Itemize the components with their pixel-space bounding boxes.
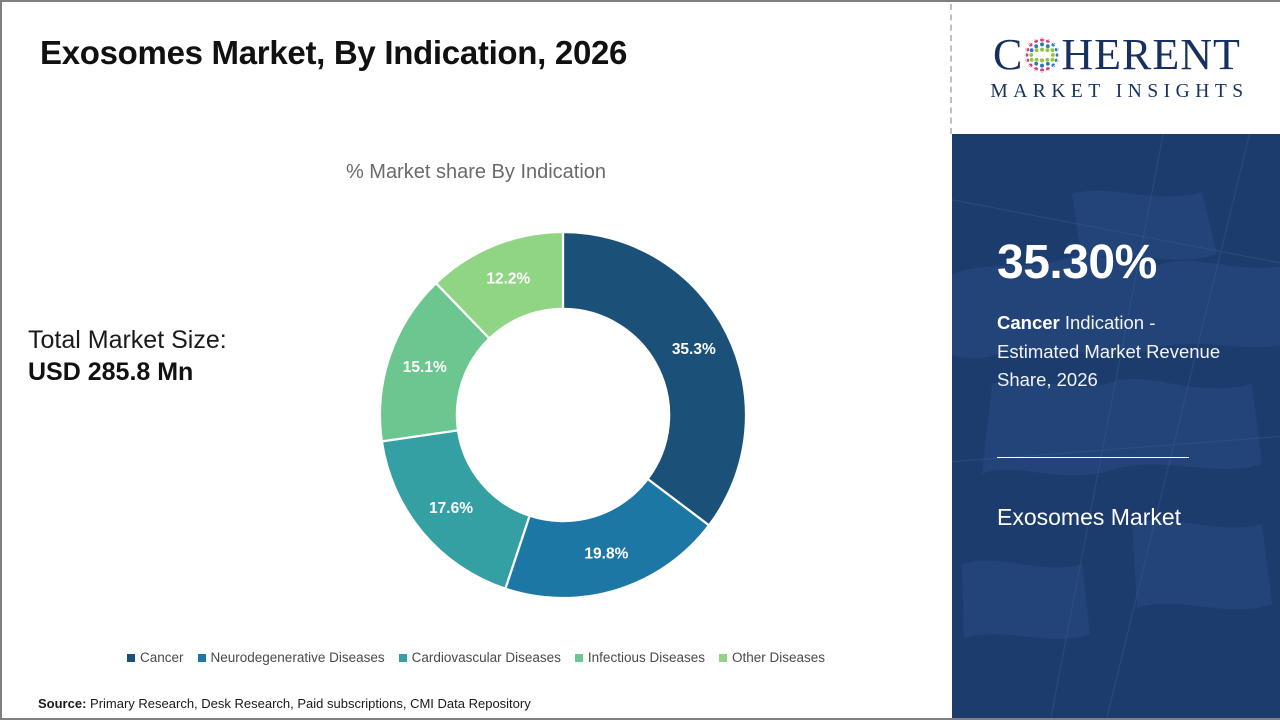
donut-slice-label: 15.1% <box>403 359 447 376</box>
legend-label: Cancer <box>140 650 184 665</box>
donut-slice-label: 12.2% <box>486 271 530 288</box>
page-title: Exosomes Market, By Indication, 2026 <box>40 34 627 72</box>
legend-label: Other Diseases <box>732 650 825 665</box>
chart-subtitle: % Market share By Indication <box>2 161 950 184</box>
donut-chart: 35.3%19.8%17.6%15.1%12.2% <box>378 230 748 600</box>
logo-word-herent: HERENT <box>1061 33 1241 77</box>
legend-swatch <box>575 654 583 662</box>
chart-legend: CancerNeurodegenerative DiseasesCardiova… <box>2 650 950 665</box>
total-market-size-value: USD 285.8 Mn <box>28 356 227 388</box>
legend-item[interactable]: Cancer <box>127 650 184 665</box>
donut-slice-label: 17.6% <box>429 500 473 517</box>
donut-slice-group <box>380 232 746 598</box>
legend-swatch <box>719 654 727 662</box>
logo-tagline: MARKET INSIGHTS <box>985 81 1248 103</box>
right-panel: C <box>952 2 1280 718</box>
legend-label: Infectious Diseases <box>588 650 705 665</box>
stat-footer-label: Exosomes Market <box>997 504 1181 531</box>
legend-item[interactable]: Infectious Diseases <box>575 650 705 665</box>
brand-logo: C <box>952 2 1280 134</box>
legend-item[interactable]: Neurodegenerative Diseases <box>198 650 385 665</box>
source-line: Source: Primary Research, Desk Research,… <box>38 696 531 711</box>
legend-swatch <box>127 654 135 662</box>
horizontal-rule <box>997 457 1189 458</box>
highlight-stat-panel: 35.30% Cancer Indication - Estimated Mar… <box>952 134 1280 718</box>
legend-label: Cardiovascular Diseases <box>412 650 561 665</box>
donut-hole <box>457 309 669 521</box>
legend-swatch <box>399 654 407 662</box>
legend-label: Neurodegenerative Diseases <box>211 650 385 665</box>
legend-item[interactable]: Other Diseases <box>719 650 825 665</box>
stat-value: 35.30% <box>997 239 1157 287</box>
source-label: Source: <box>38 696 86 711</box>
donut-slice-label: 35.3% <box>672 341 716 358</box>
main-content-area: Exosomes Market, By Indication, 2026 % M… <box>2 2 950 718</box>
total-market-size-block: Total Market Size: USD 285.8 Mn <box>28 324 227 388</box>
legend-swatch <box>198 654 206 662</box>
stat-description: Cancer Indication - Estimated Market Rev… <box>997 309 1227 395</box>
legend-item[interactable]: Cardiovascular Diseases <box>399 650 561 665</box>
logo-letter-c: C <box>993 33 1023 77</box>
donut-slice-label: 19.8% <box>584 546 628 563</box>
stat-content: 35.30% Cancer Indication - Estimated Mar… <box>997 134 1247 718</box>
infographic-page: Exosomes Market, By Indication, 2026 % M… <box>0 0 1280 720</box>
stat-description-emphasis: Cancer <box>997 312 1060 333</box>
total-market-size-label: Total Market Size: <box>28 324 227 356</box>
source-text: Primary Research, Desk Research, Paid su… <box>86 696 530 711</box>
logo-wordmark: C <box>993 33 1241 77</box>
donut-chart-svg: 35.3%19.8%17.6%15.1%12.2% <box>378 230 748 600</box>
globe-icon <box>1024 37 1060 73</box>
